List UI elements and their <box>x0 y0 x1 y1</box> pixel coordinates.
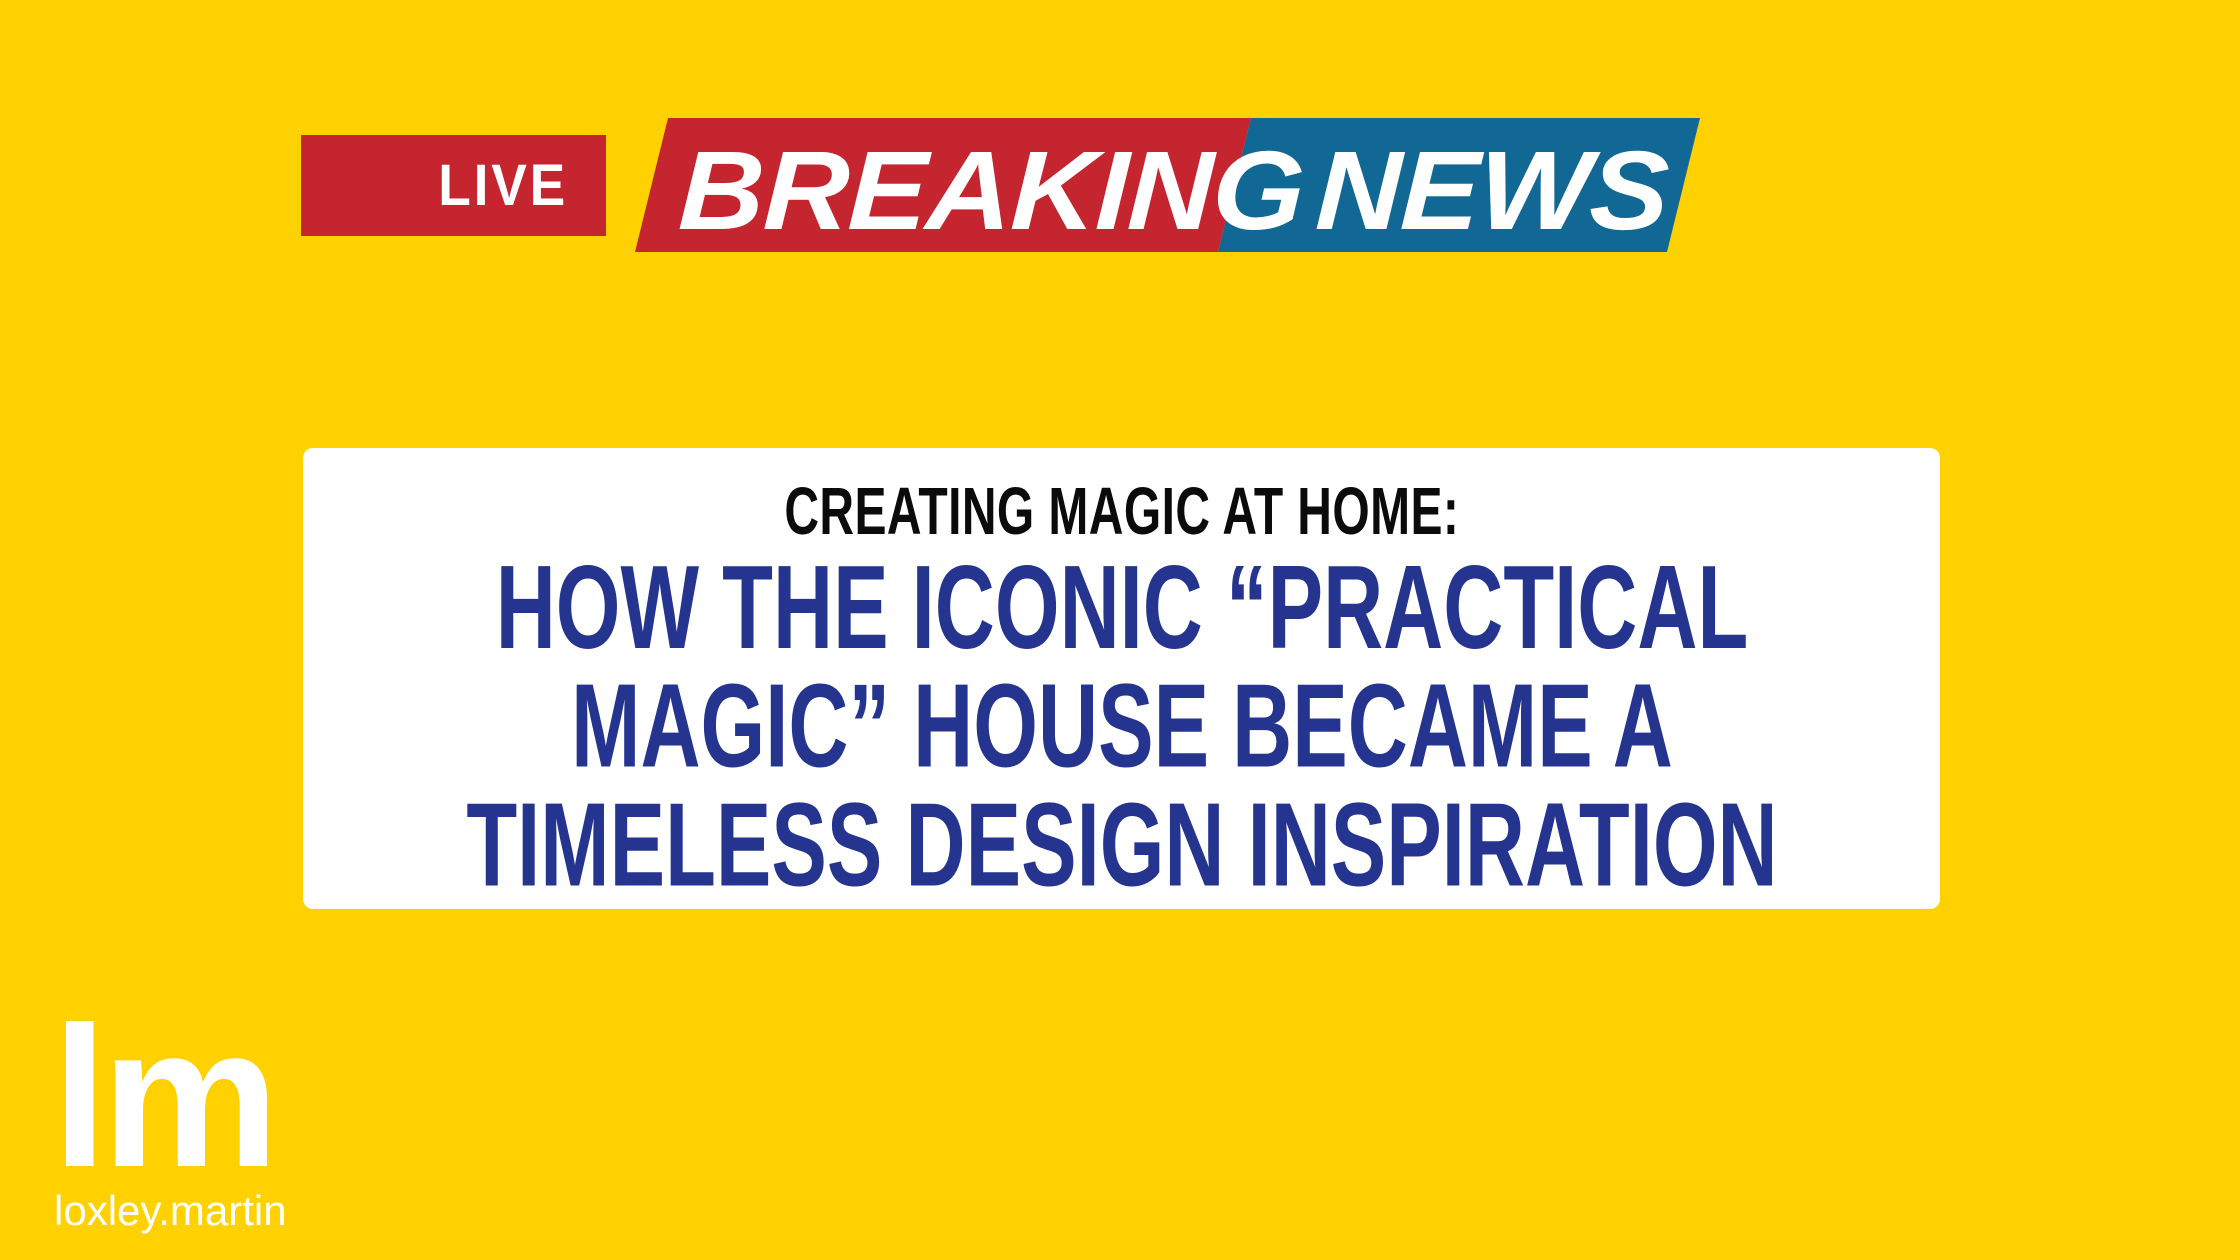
logo-monogram: lm <box>52 1012 273 1184</box>
banner-word-group: BREAKING NEWS <box>0 0 2240 300</box>
headline-kicker: CREATING MAGIC AT HOME: <box>784 476 1459 549</box>
slide-canvas: LIVE BREAKING NEWS CREATING MAGIC AT HOM… <box>0 0 2240 1260</box>
headline-line-1: HOW THE ICONIC “PRACTICAL <box>326 549 1918 668</box>
headline-title: HOW THE ICONIC “PRACTICAL MAGIC” HOUSE B… <box>326 549 1918 905</box>
logo-wordmark: loxley.martin <box>54 1190 287 1232</box>
banner-word-news: NEWS <box>1314 135 1670 247</box>
headline-line-2: MAGIC” HOUSE BECAME A <box>326 667 1918 786</box>
banner-word-breaking: BREAKING <box>677 135 1306 247</box>
headline-card: CREATING MAGIC AT HOME: HOW THE ICONIC “… <box>303 448 1940 909</box>
headline-line-3: TIMELESS DESIGN INSPIRATION <box>326 786 1918 905</box>
breaking-news-banner: LIVE BREAKING NEWS <box>0 0 2240 300</box>
brand-logo: lm loxley.martin <box>52 1012 372 1227</box>
